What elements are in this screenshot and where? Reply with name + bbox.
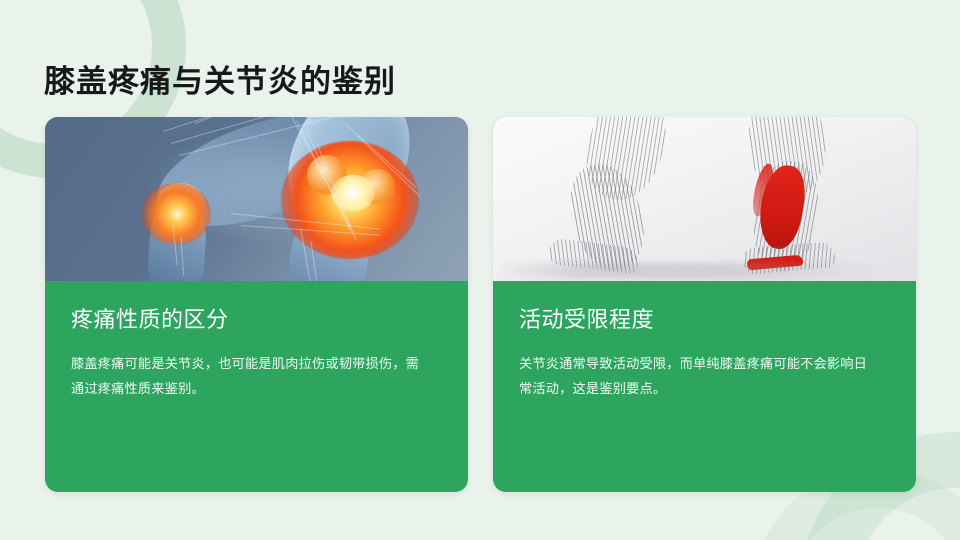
card-body-mobility-limitation: 活动受限程度 关节炎通常导致活动受限，而单纯膝盖疼痛可能不会影响日常活动，这是鉴… xyxy=(493,281,916,401)
card-title-mobility-limitation: 活动受限程度 xyxy=(519,306,890,334)
knee-tibia-shape xyxy=(283,204,376,281)
knee-fiber-line xyxy=(231,213,380,230)
knee-patella-shape xyxy=(157,183,205,225)
knee-fiber-line xyxy=(345,123,417,188)
foot-pain-highlight xyxy=(747,255,804,271)
left-leg-thigh-shape xyxy=(575,117,678,209)
knee-fiber-line xyxy=(181,237,185,275)
left-leg-foot-shape xyxy=(548,238,640,275)
content-card-pain-nature[interactable]: 疼痛性质的区分 膝盖疼痛可能是关节炎，也可能是肌肉拉伤或韧带损伤，需通过疼痛性质… xyxy=(45,117,468,492)
card-description-mobility-limitation: 关节炎通常导致活动受限，而单纯膝盖疼痛可能不会影响日常活动，这是鉴别要点。 xyxy=(519,351,879,401)
patella-pain-glow xyxy=(141,183,211,245)
knee-fiber-line xyxy=(173,225,178,265)
right-leg-thigh-shape xyxy=(744,117,831,201)
knee-lower-leg-shape xyxy=(146,201,209,281)
card-description-pain-nature: 膝盖疼痛可能是关节炎，也可能是肌肉拉伤或韧带损伤，需通过疼痛性质来鉴别。 xyxy=(71,351,431,401)
card-title-pain-nature: 疼痛性质的区分 xyxy=(71,306,442,334)
left-leg-calf-shape xyxy=(559,156,654,279)
knee-condyle-shape-b xyxy=(359,169,395,205)
knee-fiber-line xyxy=(179,117,371,156)
right-leg-foot-shape xyxy=(742,241,836,275)
walking-legs-calf-strain-illustration xyxy=(493,117,916,281)
floor-shadow xyxy=(493,263,916,279)
calf-pain-highlight xyxy=(755,162,810,252)
knee-fiber-line xyxy=(301,229,312,281)
page-title: 膝盖疼痛与关节炎的鉴别 xyxy=(44,63,396,100)
knee-thigh-shape xyxy=(144,117,373,249)
knee-fiber-line xyxy=(357,135,421,197)
calf-pain-edge-highlight xyxy=(749,162,777,218)
knee-fiber-line xyxy=(311,241,320,281)
slide-canvas: 膝盖疼痛与关节炎的鉴别 疼痛性质的区分 膝盖疼痛可能是关节炎，也可能是肌肉拉伤或… xyxy=(0,0,960,540)
right-leg-calf-shape xyxy=(748,157,825,275)
content-card-mobility-limitation[interactable]: 活动受限程度 关节炎通常导致活动受限，而单纯膝盖疼痛可能不会影响日常活动，这是鉴… xyxy=(493,117,916,492)
card-body-pain-nature: 疼痛性质的区分 膝盖疼痛可能是关节炎，也可能是肌肉拉伤或韧带损伤，需通过疼痛性质… xyxy=(45,281,468,401)
knee-joint-pain-illustration xyxy=(45,117,468,281)
